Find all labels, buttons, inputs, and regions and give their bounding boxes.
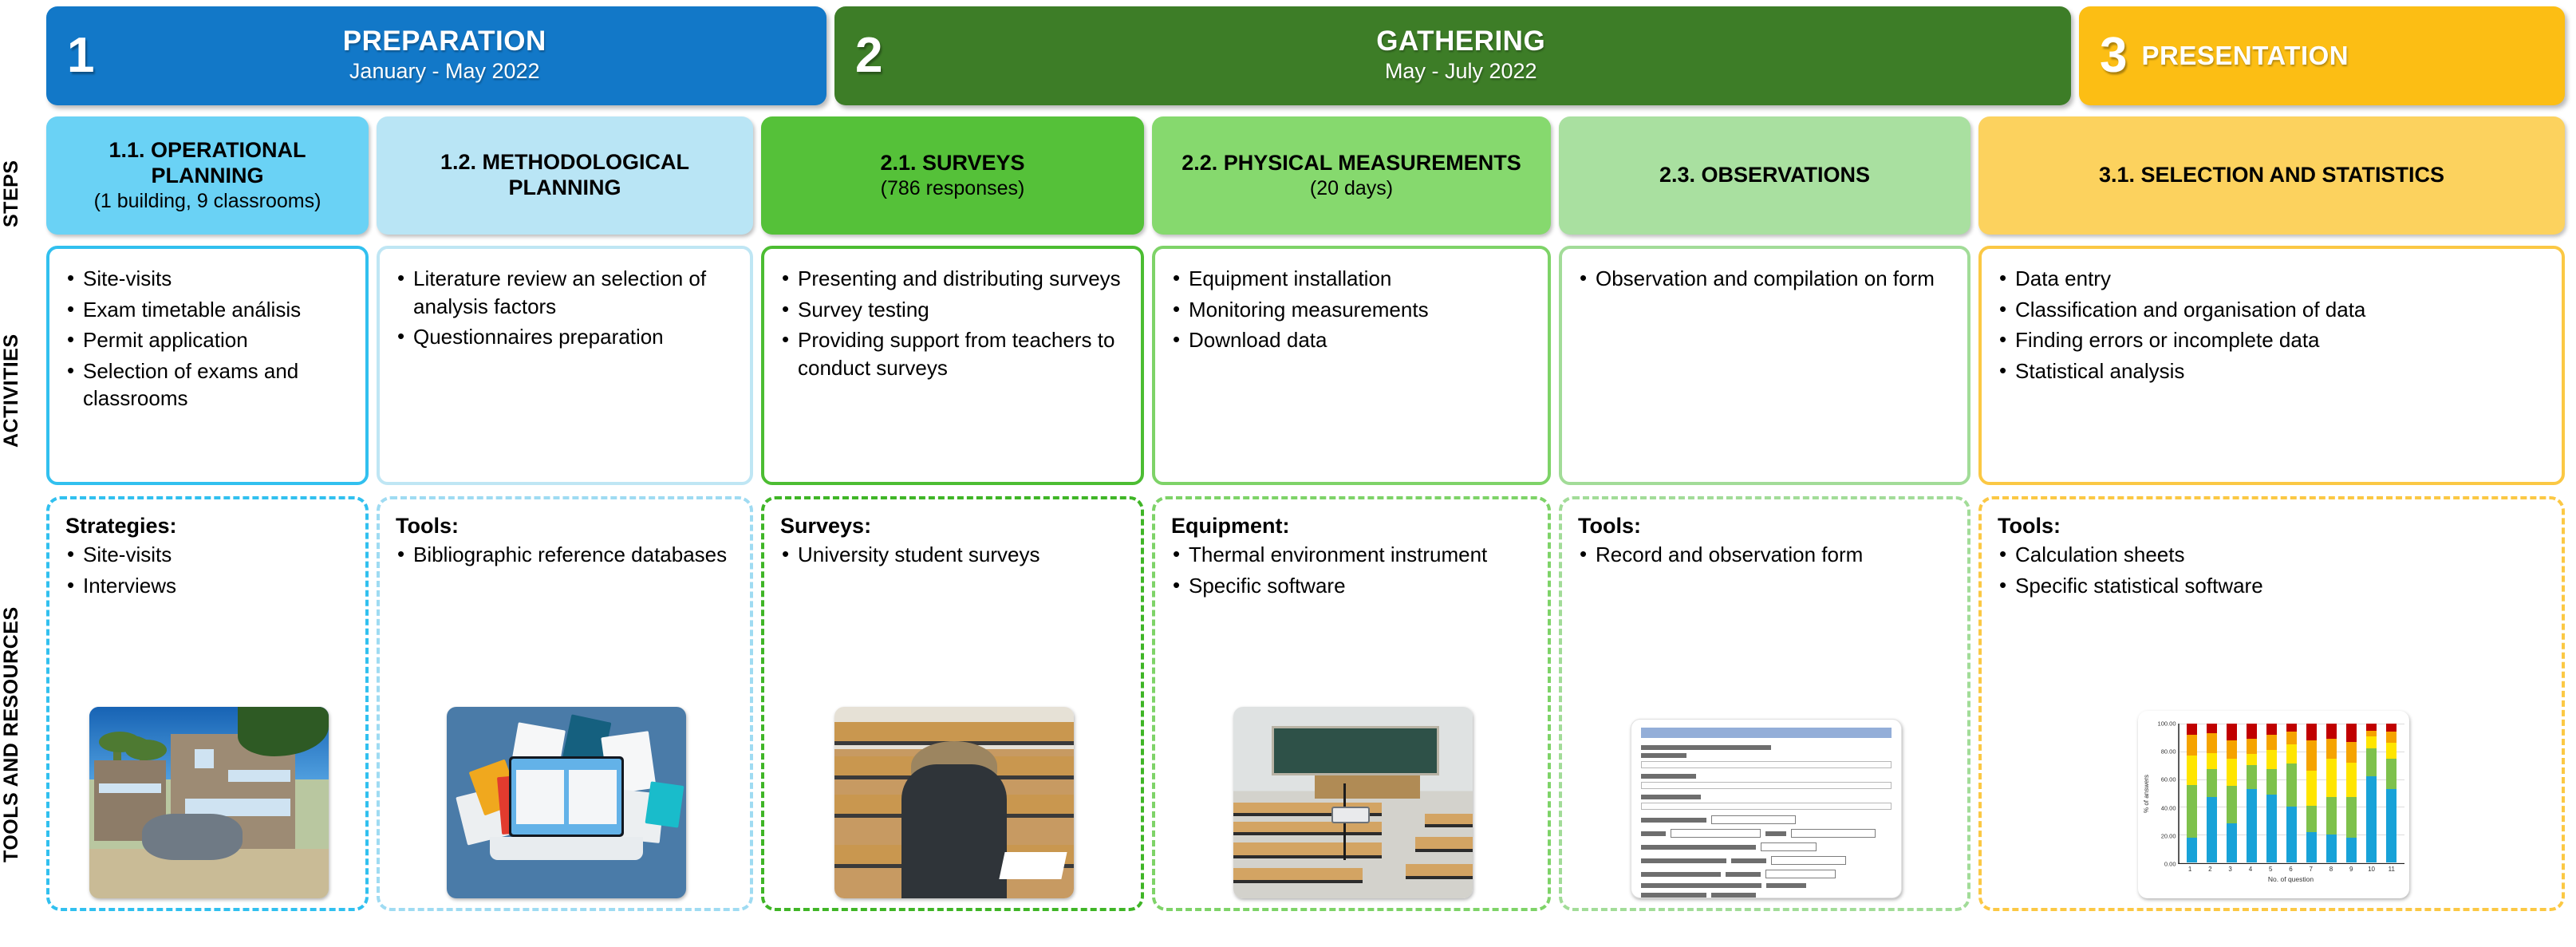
activities-box: Equipment installation Monitoring measur… [1152,246,1551,485]
flowchart-body: 1 PREPARATION January - May 2022 2 GATHE… [46,6,2565,939]
chart-y-tick: 100.00 [2158,720,2176,728]
column-observations: 2.3. OBSERVATIONS Observation and compil… [1559,116,1970,911]
tools-list: Site-visits Interviews [65,541,353,602]
chart-bar-segment [2247,724,2257,739]
phase-subtitle: January - May 2022 [94,58,795,85]
chart-bar-segment [2286,744,2297,764]
chart-y-tick: 60.00 [2161,776,2176,783]
phase-banner-presentation: 3 PRESENTATION [2079,6,2565,105]
activities-list: Literature review an selection of analys… [396,265,737,351]
building-photo-thumbnail [89,707,329,898]
chart-bar [2187,724,2197,862]
tools-box: Equipment: Thermal environment instrumen… [1152,496,1551,911]
activities-box: Data entry Classification and organisati… [1978,246,2565,485]
chart-x-tick: 10 [2366,866,2377,873]
phase-number: 1 [67,31,94,81]
step-subtitle: (1 building, 9 classrooms) [94,189,322,213]
list-item: Selection of exams and classrooms [65,357,353,412]
tools-box: Surveys: University student surveys [761,496,1144,911]
tools-box: Strategies: Site-visits Interviews [46,496,369,911]
chart-bar-segment [2187,756,2197,785]
chart-bar [2306,724,2317,862]
chart-bar-segment [2326,797,2337,835]
step-subtitle: (786 responses) [881,176,1025,200]
list-item: Survey testing [780,296,1128,324]
chart-bar [2247,724,2257,862]
chart-bar-segment [2227,786,2237,823]
chart-bar [2346,724,2357,862]
list-item: University student surveys [780,541,1128,569]
activities-box: Observation and compilation on form [1559,246,1970,485]
step-title: 3.1. SELECTION AND STATISTICS [2099,163,2444,188]
phase-title: GATHERING [882,26,2039,57]
empty-classroom-photo-thumbnail [1233,707,1473,898]
list-item: Download data [1171,326,1535,354]
chart-y-tick: 40.00 [2161,804,2176,811]
chart-x-tick: 11 [2386,866,2397,873]
chart-bar-segment [2386,732,2397,743]
chart-x-tick: 8 [2326,866,2336,873]
tools-box: Tools: Record and observation form [1559,496,1970,911]
chart-x-axis-label: No. of question [2178,875,2404,883]
tools-list: Thermal environment instrument Specific … [1171,541,1535,602]
phase-title: PRESENTATION [2141,41,2565,70]
activities-list: Site-visits Exam timetable análisis Perm… [65,265,353,412]
chart-bar-segment [2346,838,2357,862]
exam-classroom-photo-thumbnail [834,707,1074,898]
chart-bar-segment [2286,724,2297,732]
list-item: Site-visits [65,265,353,293]
activities-list: Presenting and distributing surveys Surv… [780,265,1128,381]
chart-plot-area [2178,724,2404,864]
chart-x-tick: 5 [2266,866,2276,873]
methodology-flowchart: STEPS ACTIVITIES TOOLS AND RESOURCES 1 P… [0,0,2576,947]
step-subtitle: (20 days) [1310,176,1393,200]
chart-bar-segment [2227,823,2237,862]
step-box: 1.2. METHODOLOGICAL PLANNING [377,116,753,235]
chart-x-tick: 1 [2185,866,2195,873]
column-selection-and-statistics: 3.1. SELECTION AND STATISTICS Data entry… [1978,116,2565,911]
tools-list: Calculation sheets Specific statistical … [1998,541,2549,602]
chart-bar-segment [2207,797,2217,862]
step-title: 2.3. OBSERVATIONS [1659,163,1870,188]
chart-bars [2180,724,2404,862]
chart-y-tick: 20.00 [2161,832,2176,839]
list-item: Monitoring measurements [1171,296,1535,324]
chart-bar-segment [2187,785,2197,838]
phase-banner-gathering: 2 GATHERING May - July 2022 [834,6,2071,105]
stacked-bar-chart-thumbnail: % of answers 0.0020.0040.0060.0080.00100… [2138,711,2409,898]
chart-bar-segment [2227,759,2237,787]
step-box: 2.2. PHYSICAL MEASUREMENTS (20 days) [1152,116,1551,235]
list-item: Bibliographic reference databases [396,541,737,569]
chart-bar-segment [2306,740,2317,771]
observation-form-thumbnail [1631,719,1902,898]
column-physical-measurements: 2.2. PHYSICAL MEASUREMENTS (20 days) Equ… [1152,116,1551,911]
chart-bar-segment [2306,771,2317,806]
chart-bar-segment [2247,754,2257,765]
list-item: Specific statistical software [1998,572,2549,600]
tools-heading: Tools: [1998,514,2549,539]
chart-bar [2326,724,2337,862]
tools-box: Tools: Bibliographic reference databases [377,496,753,911]
chart-x-tick: 9 [2346,866,2357,873]
step-box: 1.1. OPERATIONAL PLANNING (1 building, 9… [46,116,369,235]
chart-x-tick: 3 [2225,866,2235,873]
chart-bar-segment [2187,735,2197,756]
chart-bar-segment [2247,789,2257,862]
list-item: Calculation sheets [1998,541,2549,569]
chart-x-tick-labels: 1234567891011 [2178,864,2404,873]
tools-heading: Tools: [396,514,737,539]
step-box: 2.1. SURVEYS (786 responses) [761,116,1144,235]
chart-bar-segment [2326,759,2337,798]
chart-bar-segment [2366,748,2377,776]
chart-y-tick: 80.00 [2161,748,2176,756]
step-title: 2.2. PHYSICAL MEASUREMENTS [1181,151,1521,176]
activities-box: Site-visits Exam timetable análisis Perm… [46,246,369,485]
chart-x-tick: 6 [2286,866,2296,873]
chart-bar-segment [2306,724,2317,740]
chart-x-tick: 2 [2205,866,2215,873]
step-columns: 1.1. OPERATIONAL PLANNING (1 building, 9… [46,116,2565,911]
step-box: 3.1. SELECTION AND STATISTICS [1978,116,2565,235]
tools-list: Record and observation form [1578,541,1955,572]
list-item: Questionnaires preparation [396,323,737,351]
list-item: Interviews [65,572,353,600]
phase-header-row: 1 PREPARATION January - May 2022 2 GATHE… [46,6,2565,105]
list-item: Finding errors or incomplete data [1998,326,2549,354]
row-label-rail: STEPS ACTIVITIES TOOLS AND RESOURCES [0,6,46,939]
column-surveys: 2.1. SURVEYS (786 responses) Presenting … [761,116,1144,911]
column-methodological-planning: 1.2. METHODOLOGICAL PLANNING Literature … [377,116,753,911]
chart-bar-segment [2187,724,2197,735]
chart-bar-segment [2346,742,2357,763]
chart-bar-segment [2286,732,2297,744]
step-title: 1.1. OPERATIONAL PLANNING [57,138,357,189]
chart-bar-segment [2266,750,2277,769]
chart-bar-segment [2286,764,2297,807]
chart-bar-segment [2266,795,2277,862]
activities-list: Equipment installation Monitoring measur… [1171,265,1535,354]
chart-bar-segment [2207,724,2217,733]
activities-list: Data entry Classification and organisati… [1998,265,2549,385]
chart-bar-segment [2227,740,2237,759]
list-item: Providing support from teachers to condu… [780,326,1128,381]
tools-heading: Tools: [1578,514,1955,539]
list-item: Classification and organisation of data [1998,296,2549,324]
row-label-activities: ACTIVITIES [0,263,46,519]
chart-bar-segment [2386,759,2397,789]
step-box: 2.3. OBSERVATIONS [1559,116,1970,235]
chart-x-tick: 7 [2306,866,2316,873]
chart-bar-segment [2266,735,2277,750]
chart-bar [2227,724,2237,862]
chart-bar-segment [2207,769,2217,797]
chart-bar [2207,724,2217,862]
list-item: Site-visits [65,541,353,569]
list-item: Record and observation form [1578,541,1955,569]
chart-bar-segment [2266,769,2277,794]
chart-bar-segment [2386,743,2397,758]
tools-box: Tools: Calculation sheets Specific stati… [1978,496,2565,911]
books-laptop-illustration-thumbnail [447,707,686,898]
step-title: 1.2. METHODOLOGICAL PLANNING [388,150,742,201]
phase-title: PREPARATION [94,26,795,57]
tools-heading: Surveys: [780,514,1128,539]
chart-bar-segment [2227,724,2237,740]
chart-bar-segment [2346,797,2357,837]
chart-bar-segment [2247,739,2257,754]
chart-bar-segment [2326,739,2337,758]
tools-list: University student surveys [780,541,1128,572]
chart-bar-segment [2366,731,2377,736]
chart-bar-segment [2306,806,2317,832]
chart-bar-segment [2346,763,2357,798]
list-item: Specific software [1171,572,1535,600]
row-label-steps: STEPS [0,126,46,262]
chart-bar-segment [2386,724,2397,732]
chart-bar-segment [2207,733,2217,752]
chart-bar-segment [2366,724,2377,731]
phase-number: 2 [855,31,882,81]
list-item: Exam timetable análisis [65,296,353,324]
chart-y-tick: 0.00 [2164,861,2176,868]
list-item: Thermal environment instrument [1171,541,1535,569]
chart-bar-segment [2306,832,2317,862]
step-title: 2.1. SURVEYS [880,151,1024,176]
column-operational-planning: 1.1. OPERATIONAL PLANNING (1 building, 9… [46,116,369,911]
chart-bar-segment [2207,753,2217,770]
list-item: Literature review an selection of analys… [396,265,737,320]
chart-bar-segment [2366,776,2377,862]
activities-box: Literature review an selection of analys… [377,246,753,485]
phase-subtitle: May - July 2022 [882,58,2039,85]
list-item: Equipment installation [1171,265,1535,293]
chart-bar [2386,724,2397,862]
activities-list: Observation and compilation on form [1578,265,1955,293]
chart-y-tick-labels: 0.0020.0040.0060.0080.00100.00 [2152,724,2178,864]
chart-bar-segment [2266,724,2277,735]
list-item: Presenting and distributing surveys [780,265,1128,293]
chart-bar-segment [2326,835,2337,862]
tools-list: Bibliographic reference databases [396,541,737,572]
phase-number: 3 [2100,31,2127,81]
chart-bar-segment [2326,724,2337,739]
chart-bar-segment [2247,765,2257,789]
chart-bar-segment [2187,838,2197,862]
list-item: Observation and compilation on form [1578,265,1955,293]
tools-heading: Strategies: [65,514,353,539]
activities-box: Presenting and distributing surveys Surv… [761,246,1144,485]
chart-bar-segment [2366,736,2377,749]
chart-x-tick: 4 [2245,866,2255,873]
chart-bar-segment [2346,724,2357,742]
row-label-tools: TOOLS AND RESOURCES [0,523,46,946]
list-item: Data entry [1998,265,2549,293]
chart-bar-segment [2386,789,2397,862]
chart-bar [2366,724,2377,862]
chart-bar-segment [2286,807,2297,862]
chart-bar [2266,724,2277,862]
list-item: Permit application [65,326,353,354]
chart-y-axis-label: % of answers [2143,724,2152,864]
phase-banner-preparation: 1 PREPARATION January - May 2022 [46,6,826,105]
list-item: Statistical analysis [1998,357,2549,385]
chart-bar [2286,724,2297,862]
tools-heading: Equipment: [1171,514,1535,539]
